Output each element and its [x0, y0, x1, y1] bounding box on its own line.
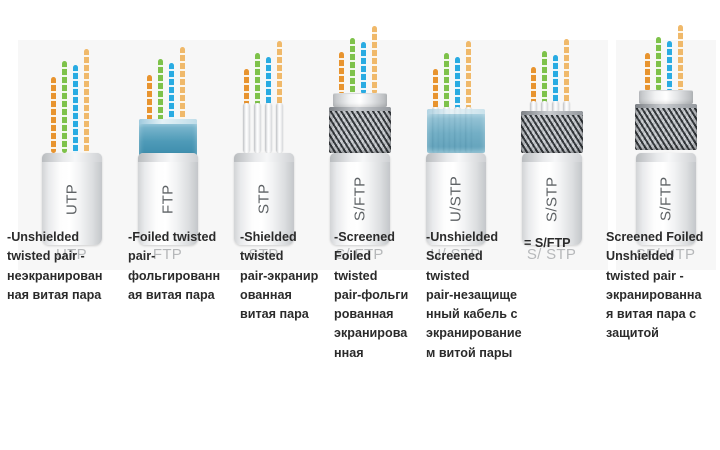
- pair-shield-4: [276, 103, 283, 153]
- wire-orange: [433, 69, 438, 109]
- wire-green: [255, 53, 260, 105]
- cable-ftp: FTP: [135, 40, 201, 245]
- foil-shield: [427, 109, 485, 153]
- wire-green: [158, 59, 163, 125]
- cable-stp: STP: [231, 40, 297, 245]
- wire-blue: [169, 63, 174, 125]
- wire-green: [350, 38, 355, 94]
- desc-line: фольгированн: [128, 267, 240, 286]
- pair-shield-1: [243, 103, 250, 153]
- wire-brown: [180, 47, 185, 125]
- wire-blue: [667, 41, 672, 91]
- desc-line: Screened: [426, 247, 538, 266]
- desc-line: twisted: [426, 267, 538, 286]
- wire-blue: [553, 55, 558, 105]
- desc-line: pair-: [128, 247, 240, 266]
- wire-orange: [147, 75, 152, 125]
- foil-ring: [639, 90, 693, 104]
- wire-green: [62, 61, 67, 153]
- desc-line: м витой пары: [426, 344, 538, 363]
- wire-orange: [244, 69, 249, 105]
- wire-blue: [266, 57, 271, 105]
- wire-green: [542, 51, 547, 105]
- desc-line: неэкранирован: [7, 267, 119, 286]
- wire-brown: [277, 41, 282, 105]
- wire-green: [656, 37, 661, 91]
- desc-line: я витая пара с: [606, 305, 718, 324]
- desc-line: ая витая пара: [128, 286, 240, 305]
- desc-line: -Unshielded: [7, 228, 119, 247]
- cable-sfutp: S/FTP: [633, 40, 699, 245]
- desc-line: экранированна: [606, 286, 718, 305]
- wire-brown: [372, 26, 377, 94]
- wire-orange: [645, 53, 650, 91]
- braid-shield: [329, 107, 391, 153]
- pair-shield-3: [265, 103, 272, 153]
- wire-orange: [51, 77, 56, 153]
- desc-line: pair-незащище: [426, 286, 538, 305]
- desc-line: Screened Foiled: [606, 228, 718, 247]
- desc-line: Unshielded: [606, 247, 718, 266]
- pair-shield-2: [254, 103, 261, 153]
- desc-line: -Foiled twisted: [128, 228, 240, 247]
- desc-line: нный кабель с: [426, 305, 538, 324]
- wire-orange: [339, 52, 344, 94]
- desc-line: экранирование: [426, 324, 538, 343]
- wire-blue: [73, 65, 78, 153]
- foil-ring: [333, 93, 387, 107]
- cable-utp: UTP: [39, 40, 105, 245]
- description-ustp: -Unshielded Screened twisted pair-незащи…: [426, 228, 538, 363]
- description-ftp: -Foiled twisted pair- фольгированн ая ви…: [128, 228, 240, 305]
- braid-shield: [521, 111, 583, 153]
- cable-sftp: S/FTP: [327, 40, 393, 245]
- cable-sstp: S/STP: [519, 40, 585, 245]
- desc-line: -Unshielded: [426, 228, 538, 247]
- wire-green: [444, 53, 449, 109]
- description-sfutp: Screened Foiled Unshielded twisted pair …: [606, 228, 718, 344]
- wire-brown: [466, 41, 471, 109]
- braid-shield: [635, 104, 697, 150]
- desc-line: twisted pair -: [7, 247, 119, 266]
- wire-brown: [84, 49, 89, 153]
- desc-line: twisted pair -: [606, 267, 718, 286]
- wire-brown: [678, 25, 683, 91]
- wire-brown: [564, 39, 569, 105]
- description-utp: -Unshielded twisted pair - неэкранирован…: [7, 228, 119, 305]
- wire-orange: [531, 67, 536, 105]
- cable-shielding-figure: UTP UTP FTP FTP S: [0, 0, 720, 450]
- wire-blue: [455, 57, 460, 109]
- cable-ustp: U/STP: [423, 40, 489, 245]
- desc-line: защитой: [606, 324, 718, 343]
- wire-blue: [361, 42, 366, 94]
- desc-line: ная витая пара: [7, 286, 119, 305]
